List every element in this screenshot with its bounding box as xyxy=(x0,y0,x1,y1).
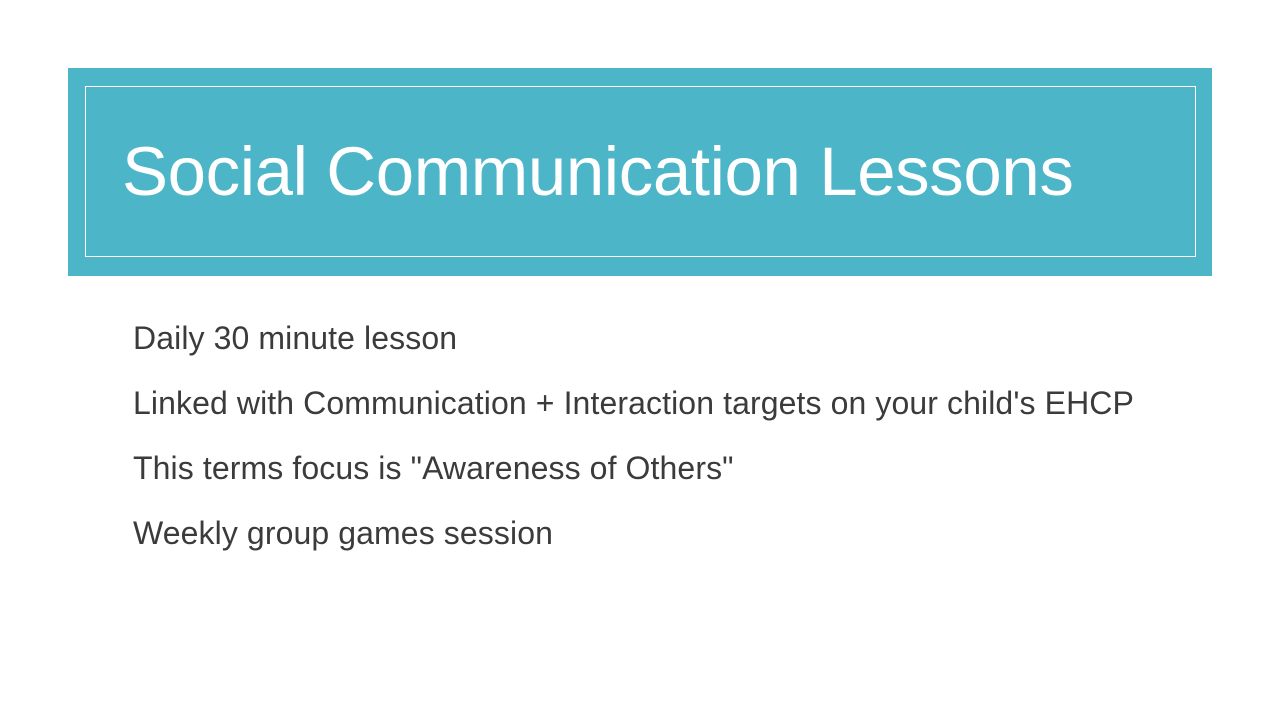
body-line-3: This terms focus is "Awareness of Others… xyxy=(133,436,1133,501)
slide-canvas: Social Communication Lessons Daily 30 mi… xyxy=(0,0,1280,720)
title-banner: Social Communication Lessons xyxy=(68,68,1212,276)
body-line-1: Daily 30 minute lesson xyxy=(133,306,1133,371)
body-line-2: Linked with Communication + Interaction … xyxy=(133,371,1133,436)
slide-body: Daily 30 minute lesson Linked with Commu… xyxy=(133,306,1133,566)
body-line-4: Weekly group games session xyxy=(133,501,1133,566)
slide-title: Social Communication Lessons xyxy=(122,68,1182,276)
